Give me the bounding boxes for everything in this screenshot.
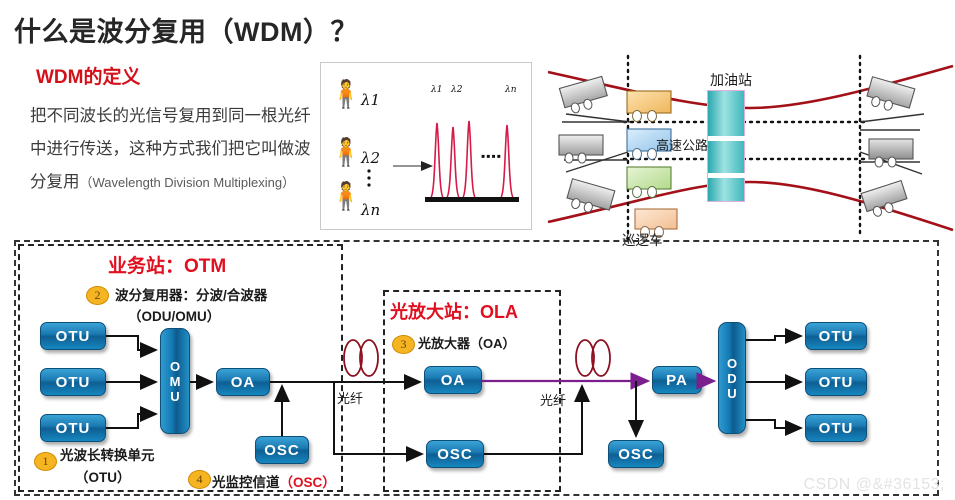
fiber-label-1: 光纤 xyxy=(337,388,363,407)
watermark: CSDN @&#36153; xyxy=(803,476,945,494)
fiber-coil-icon-1 xyxy=(344,340,378,376)
fiber-label-2: 光纤 xyxy=(540,390,566,409)
fiber-coil-icon-2 xyxy=(576,340,610,376)
network-connections xyxy=(0,0,955,500)
slide-canvas: 什么是波分复用（WDM）？ WDM的定义 把不同波长的光信号复用到同一根光纤中进… xyxy=(0,0,955,500)
